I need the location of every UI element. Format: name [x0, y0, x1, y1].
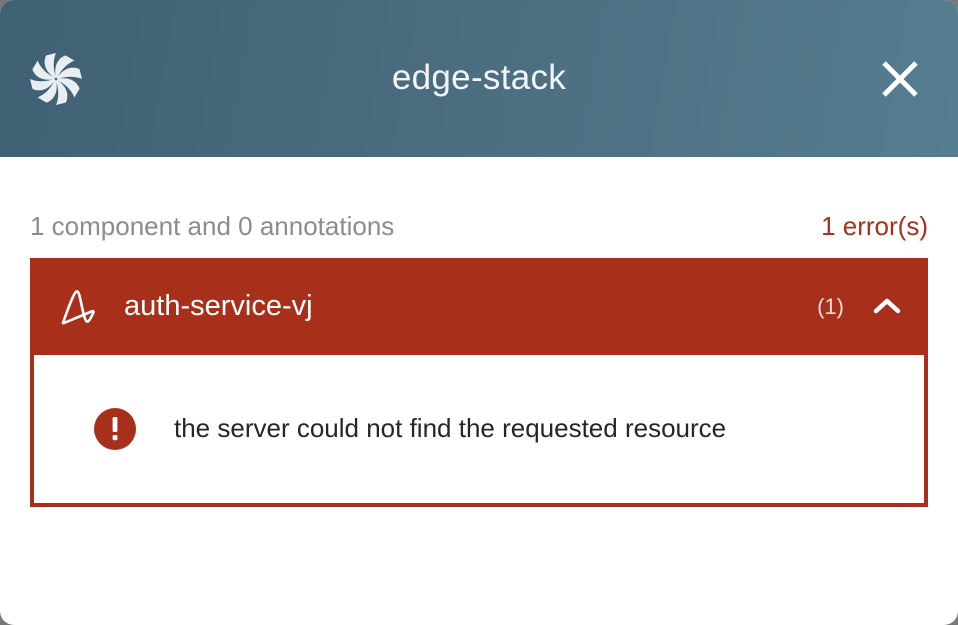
mapping-delta-icon [56, 284, 102, 330]
summary-row: 1 component and 0 annotations 1 error(s) [30, 157, 928, 247]
component-error-count: (1) [817, 296, 844, 318]
error-count-label: 1 error(s) [821, 213, 928, 239]
close-button[interactable] [874, 53, 926, 105]
component-header-row[interactable]: auth-service-vj (1) [30, 258, 928, 355]
dialog-body: 1 component and 0 annotations 1 error(s)… [0, 157, 958, 507]
exclamation-circle-icon [94, 408, 136, 450]
pinwheel-logo-icon [28, 51, 84, 107]
component-name: auth-service-vj [124, 292, 817, 321]
dialog-header: edge-stack [0, 0, 958, 157]
dialog-card: edge-stack 1 component and 0 annotations… [0, 0, 958, 625]
collapse-toggle[interactable] [870, 290, 904, 324]
component-detail-panel: the server could not find the requested … [30, 355, 928, 507]
close-icon [878, 57, 922, 101]
chevron-up-icon [870, 290, 904, 324]
error-item: the server could not find the requested … [62, 408, 726, 450]
page-backdrop: edge-stack 1 component and 0 annotations… [0, 0, 958, 625]
component-count-label: 1 component and 0 annotations [30, 213, 394, 239]
dialog-title: edge-stack [0, 60, 958, 97]
error-message: the server could not find the requested … [174, 413, 726, 444]
component-group: auth-service-vj (1) [30, 258, 928, 507]
